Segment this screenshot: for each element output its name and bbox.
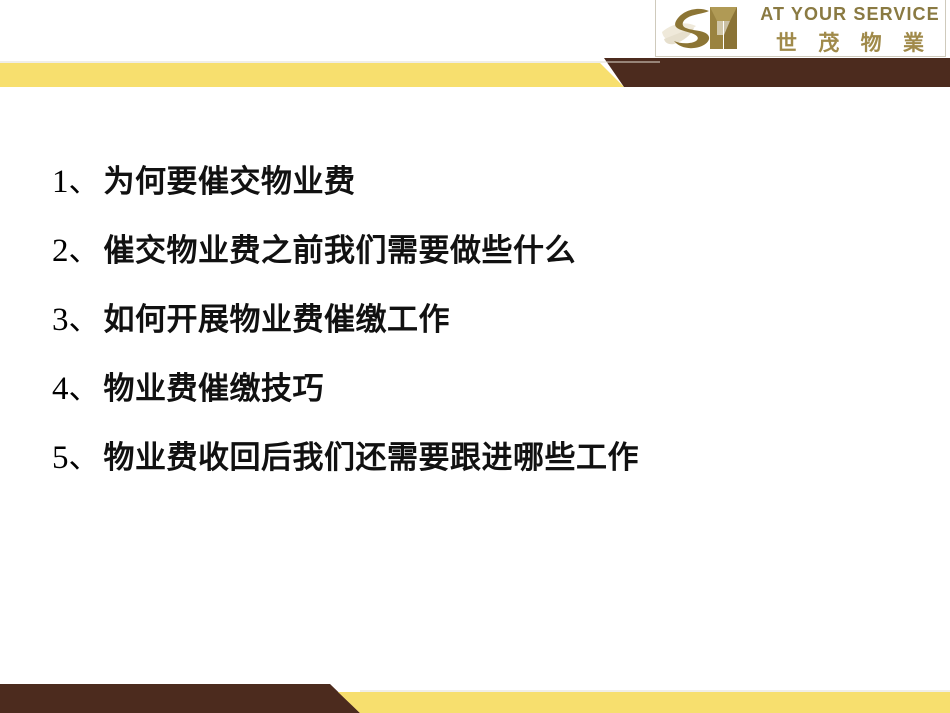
agenda-item-number: 2 [52,235,69,268]
slide-content: 1 、 为何要催交物业费 2 、 催交物业费之前我们需要做些什么 3 、 如何开… [0,96,950,666]
agenda-item-number: 3 [52,304,69,337]
agenda-item: 2 、 催交物业费之前我们需要做些什么 [52,235,912,268]
brand-company-name-cn: 世 茂 物 業 [756,27,944,57]
agenda-item-separator: 、 [69,374,100,405]
agenda-item-label: 如何开展物业费催缴工作 [104,305,451,336]
footer-yellow-band [338,692,950,713]
agenda-item-number: 4 [52,373,69,406]
agenda-item-label: 为何要催交物业费 [104,167,356,198]
agenda-item-label: 物业费催缴技巧 [104,374,325,405]
brand-tagline: AT YOUR SERVICE [756,4,944,25]
agenda-item-number: 1 [52,166,69,199]
slide-canvas: AT YOUR SERVICE 世 茂 物 業 1 、 为何要催交物业费 2 、… [0,0,950,713]
header-hairline [0,62,660,63]
header-yellow-band [0,63,624,87]
brand-text: AT YOUR SERVICE 世 茂 物 業 [756,2,944,55]
agenda-item-separator: 、 [69,167,100,198]
brand-logo-plate: AT YOUR SERVICE 世 茂 物 業 [655,0,946,57]
footer-brown-band [0,684,360,713]
agenda-item: 4 、 物业费催缴技巧 [52,373,912,406]
footer-hairline [360,691,950,692]
agenda-item-number: 5 [52,442,69,475]
agenda-item-separator: 、 [69,305,100,336]
agenda-item-label: 催交物业费之前我们需要做些什么 [104,236,577,267]
agenda-item-separator: 、 [69,443,100,474]
agenda-list: 1 、 为何要催交物业费 2 、 催交物业费之前我们需要做些什么 3 、 如何开… [52,166,912,511]
agenda-item-label: 物业费收回后我们还需要跟进哪些工作 [104,443,640,474]
agenda-item: 5 、 物业费收回后我们还需要跟进哪些工作 [52,442,912,475]
footer-decoration [0,666,950,713]
agenda-item-separator: 、 [69,236,100,267]
agenda-item: 1 、 为何要催交物业费 [52,166,912,199]
agenda-item: 3 、 如何开展物业费催缴工作 [52,304,912,337]
header-brown-band [604,58,950,87]
sm-monogram-icon [660,1,752,55]
